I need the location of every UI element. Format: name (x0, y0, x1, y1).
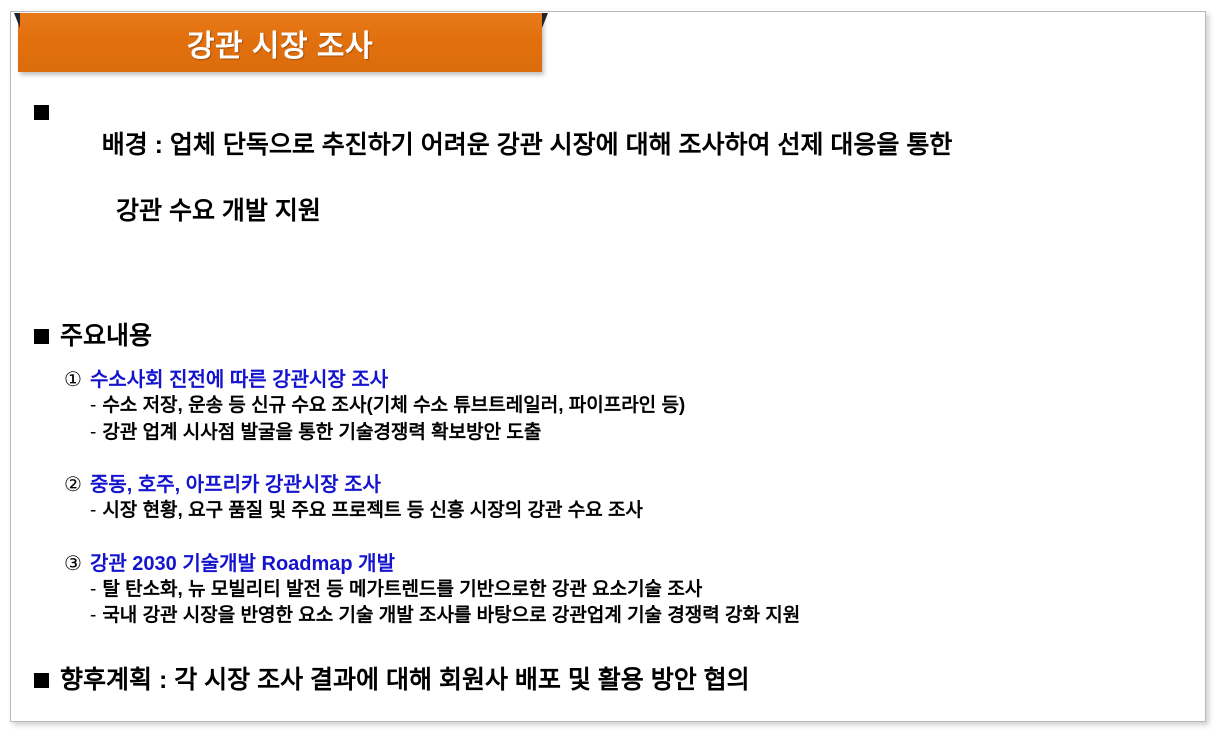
numbered-item-3-bullet-2: -국내 강관 시장을 반영한 요소 기술 개발 조사를 바탕으로 강관업계 기술… (24, 603, 1172, 630)
spacer (24, 525, 1172, 551)
spacer (24, 353, 1172, 367)
main-content-heading: 주요내용 (24, 320, 1172, 353)
dash-bullet-icon: - (90, 395, 96, 416)
background-line-2: 강관 수요 개발 지원 (60, 195, 952, 228)
numbered-item-1-bullet-2: -강관 업계 시사점 발굴을 통한 기술경쟁력 확보방안 도출 (24, 420, 1172, 447)
spacer (24, 630, 1172, 664)
bullet-text: 시장 현황, 요구 품질 및 주요 프로젝트 등 신흥 시장의 강관 수요 조사 (102, 500, 643, 521)
background-section: 배경 : 업체 단독으로 추진하기 어려운 강관 시장에 대해 조사하여 선제 … (24, 96, 1172, 294)
numbered-item-1: ① 수소사회 진전에 따른 강관시장 조사 (24, 367, 1172, 393)
circled-number-icon: ① (64, 367, 82, 393)
spacer (24, 294, 1172, 320)
numbered-item-3-bullet-1: -탈 탄소화, 뉴 모빌리티 발전 등 메가트렌드를 기반으로한 강관 요소기술… (24, 577, 1172, 604)
future-plan-text: 향후계획 : 각 시장 조사 결과에 대해 회원사 배포 및 활용 방안 협의 (60, 664, 750, 697)
bullet-text: 국내 강관 시장을 반영한 요소 기술 개발 조사를 바탕으로 강관업계 기술 … (102, 605, 800, 626)
numbered-item-3: ③ 강관 2030 기술개발 Roadmap 개발 (24, 551, 1172, 577)
numbered-item-1-title: 수소사회 진전에 따른 강관시장 조사 (90, 367, 388, 393)
future-plan-section: 향후계획 : 각 시장 조사 결과에 대해 회원사 배포 및 활용 방안 협의 (24, 664, 1172, 697)
numbered-item-2-title: 중동, 호주, 아프리카 강관시장 조사 (90, 472, 381, 498)
numbered-item-3-title: 강관 2030 기술개발 Roadmap 개발 (90, 551, 395, 577)
banner-corner-notch-left (14, 13, 20, 28)
numbered-item-2-bullet-1: -시장 현황, 요구 품질 및 주요 프로젝트 등 신흥 시장의 강관 수요 조… (24, 498, 1172, 525)
numbered-item-2: ② 중동, 호주, 아프리카 강관시장 조사 (24, 472, 1172, 498)
main-content-label: 주요내용 (60, 320, 152, 353)
dash-bullet-icon: - (90, 579, 96, 600)
banner-corner-notch-right (542, 13, 548, 28)
circled-number-icon: ② (64, 472, 82, 498)
square-bullet-icon (34, 329, 49, 344)
circled-number-icon: ③ (64, 551, 82, 577)
slide-content: 배경 : 업체 단독으로 추진하기 어려운 강관 시장에 대해 조사하여 선제 … (0, 96, 1196, 697)
bullet-text: 탈 탄소화, 뉴 모빌리티 발전 등 메가트렌드를 기반으로한 강관 요소기술 … (102, 579, 702, 600)
square-bullet-icon (34, 105, 49, 120)
dash-bullet-icon: - (90, 605, 96, 626)
background-line-1: 배경 : 업체 단독으로 추진하기 어려운 강관 시장에 대해 조사하여 선제 … (102, 131, 953, 159)
background-text: 배경 : 업체 단독으로 추진하기 어려운 강관 시장에 대해 조사하여 선제 … (60, 96, 952, 294)
page-title: 강관 시장 조사 (187, 21, 373, 65)
dash-bullet-icon: - (90, 500, 96, 521)
slide-title-banner: 강관 시장 조사 (18, 13, 542, 72)
spacer (24, 446, 1172, 472)
dash-bullet-icon: - (90, 422, 96, 443)
bullet-text: 강관 업계 시사점 발굴을 통한 기술경쟁력 확보방안 도출 (102, 422, 541, 443)
square-bullet-icon (34, 673, 49, 688)
numbered-item-1-bullet-1: -수소 저장, 운송 등 신규 수요 조사(기체 수소 튜브트레일러, 파이프라… (24, 393, 1172, 420)
bullet-text: 수소 저장, 운송 등 신규 수요 조사(기체 수소 튜브트레일러, 파이프라인… (102, 395, 685, 416)
